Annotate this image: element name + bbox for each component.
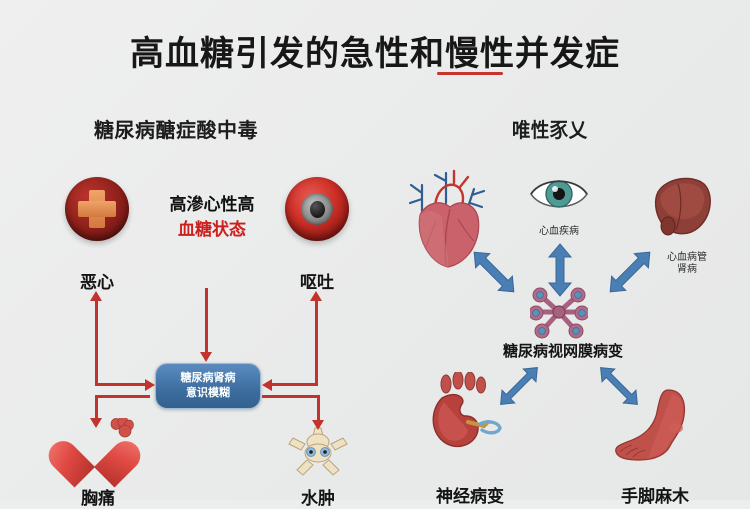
connector-arrow-up-right — [310, 291, 322, 301]
connector-arrow-down-center — [200, 352, 212, 362]
arrow-foot-to-hub-icon — [588, 358, 650, 419]
arrow-eye-to-hub-icon — [545, 242, 575, 303]
hyperosmolar-state-label: 高滲心性高 血糖状态 — [152, 192, 272, 242]
left-item-label-vomiting: 呕吐 — [285, 268, 349, 293]
arrow-liver-to-hub-icon — [596, 242, 664, 307]
left-section-subtitle: 糖尿病醣症酸中毒 — [94, 114, 258, 143]
left-item-label-nausea: 恶心 — [65, 268, 129, 293]
arrow-kidney-to-hub-icon — [488, 358, 550, 419]
hhs-line2: 血糖状态 — [152, 217, 272, 242]
center-box-line2: 意识模糊 — [186, 386, 230, 401]
bloodshot-eye-icon — [285, 177, 349, 241]
right-item-label-cardiovascular: 心血疾病 — [518, 226, 600, 238]
eye-icon — [528, 172, 590, 221]
heart-icon — [66, 422, 122, 472]
left-item-label-chestpain: 胸痛 — [58, 484, 138, 509]
connector-line-left-vertical — [95, 300, 98, 385]
right-section-subtitle: 唯性豕乂 — [512, 114, 587, 143]
connector-arrow-down-edema — [312, 420, 324, 430]
connector-arrow-up-left — [90, 291, 102, 301]
connector-arrow-right-into-box — [145, 379, 155, 391]
connector-line-lower-horizontal — [262, 395, 320, 398]
connector-arrow-down-chestpain — [90, 418, 102, 428]
left-center-status-box: 糖尿病肾病 意识模糊 — [155, 363, 261, 409]
left-item-label-edema: 水肿 — [278, 484, 358, 509]
connector-line-left-horizontal — [95, 383, 147, 386]
center-box-line1: 糖尿病肾病 — [181, 371, 236, 386]
right-item-label-neuropathy: 神经病变 — [420, 482, 520, 507]
blood-cell-cross-icon — [65, 177, 129, 241]
infographic-poster: 高血糖引发的急性和慢性并发症 糖尿病醣症酸中毒 唯性豕乂 恶心 高滲心性高 血糖… — [0, 0, 750, 500]
connector-arrow-left-into-box — [262, 379, 272, 391]
connector-line-lower-left-horizontal — [95, 395, 150, 398]
liver-icon — [648, 170, 718, 242]
connector-line-right-horizontal — [270, 383, 318, 386]
title-underline-accent — [437, 72, 503, 75]
page-title: 高血糖引发的急性和慢性并发症 — [0, 26, 750, 75]
connector-line-up-center — [205, 288, 208, 354]
hhs-line1: 高滲心性高 — [152, 192, 272, 217]
connector-line-right-vertical — [315, 300, 318, 385]
right-item-label-numbness: 手脚麻木 — [600, 482, 710, 507]
arrow-heart-to-hub-icon — [460, 242, 528, 307]
spine-nerve-icon — [285, 422, 351, 484]
